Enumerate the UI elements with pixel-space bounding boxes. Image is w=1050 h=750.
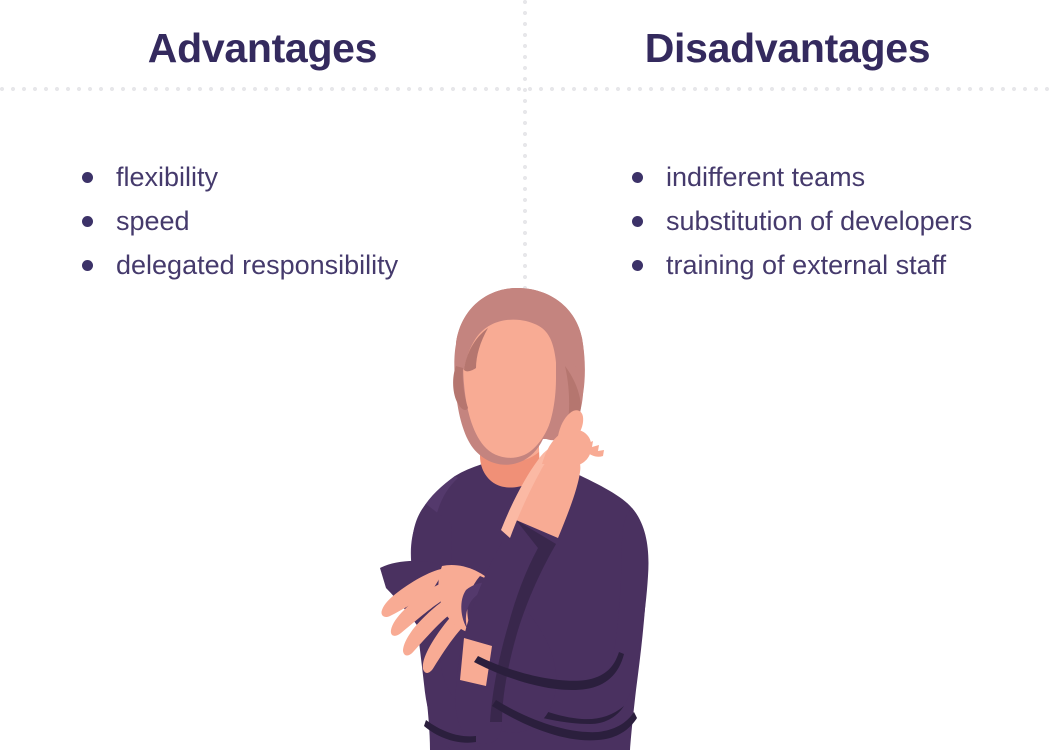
list-item: flexibility [78,155,408,199]
list-item: speed [78,199,408,243]
list-item: substitution of developers [628,199,1028,243]
slide-canvas: Advantages Disadvantages flexibility spe… [0,0,1050,750]
bullet-icon [82,172,93,183]
advantages-list: flexibility speed delegated responsibili… [78,155,408,287]
list-item-label: delegated responsibility [116,250,398,280]
thinking-person-illustration [360,280,670,750]
list-item: delegated responsibility [78,243,408,287]
list-item-label: indifferent teams [666,162,865,192]
advantages-heading: Advantages [0,24,525,72]
list-item-label: speed [116,206,190,236]
list-item-label: flexibility [116,162,218,192]
bullet-icon [632,260,643,271]
bullet-icon [82,260,93,271]
disadvantages-heading: Disadvantages [525,24,1050,72]
bullet-icon [632,172,643,183]
list-item-label: substitution of developers [666,206,972,236]
bullet-icon [82,216,93,227]
disadvantages-list: indifferent teams substitution of develo… [628,155,1028,287]
bullet-icon [632,216,643,227]
list-item: indifferent teams [628,155,1028,199]
list-item-label: training of external staff [666,250,946,280]
list-item: training of external staff [628,243,1028,287]
